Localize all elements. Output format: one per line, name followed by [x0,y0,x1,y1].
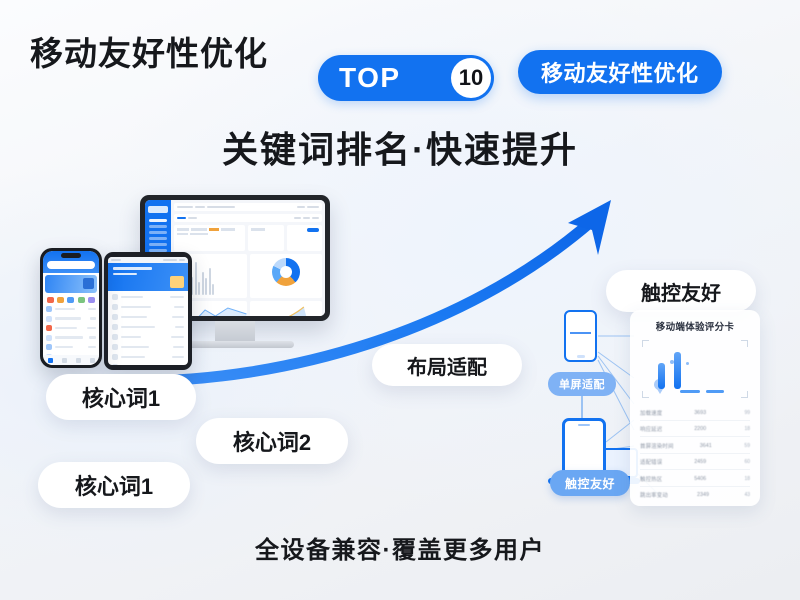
dashboard-donut-card [250,254,323,298]
row-value: 2200 [694,426,706,432]
row-value: 3693 [694,410,706,416]
row-delta: 99 [738,410,750,416]
tablet-mockup [104,252,192,370]
dashboard-stat-card [248,225,284,251]
dashboard-nav-item [149,243,167,246]
bar-series [658,347,738,389]
keyword-pill-2[interactable]: 核心词2 [196,418,348,464]
monitor-base [176,341,294,348]
dashboard-topbar [174,203,322,211]
keyword-pill-3[interactable]: 核心词1 [38,462,190,508]
layout-adapt-pill[interactable]: 布局适配 [372,344,522,386]
phone-search-bar [47,261,95,269]
phone-quick-icons [43,295,99,306]
list-item [46,316,96,322]
row-value: 3641 [700,443,712,449]
list-item [46,325,96,331]
bracket-icon [642,391,649,398]
footer-tagline: 全设备兼容·覆盖更多用户 [0,530,800,565]
bar [658,363,665,389]
row-delta: 60 [738,459,750,465]
dashboard-logo [148,206,168,213]
table-row: 适配错误 2459 60 [640,454,750,471]
dashboard-trend-card [250,301,323,316]
small-phone-icon [564,310,597,362]
list-item [112,314,184,320]
phone-list [43,306,99,360]
list-item [46,344,96,350]
dashboard-main [171,200,325,316]
row-label: 适配错误 [640,458,662,466]
dashboard-tabbar [174,214,322,222]
row-delta: 59 [738,443,750,449]
diagram-chip-top: 单屏适配 [548,372,616,396]
phone-tabbar [43,355,99,365]
diagram-chip-bottom: 触控友好 [550,470,630,496]
row-value: 2349 [697,492,709,498]
dashboard-row [174,301,322,316]
list-item [112,334,184,340]
banner-thumbnail [170,276,184,288]
score-card-chart [642,340,748,398]
list-item [112,324,184,330]
page-subtitle: 关键词排名·快速提升 [0,121,800,173]
dashboard-row [174,225,322,251]
row-label: 加载速度 [640,409,662,417]
mobile-experience-diagram: 单屏适配 触控友好 移动端体验评分卡 加载速度 3693 99 [540,300,780,515]
list-item [112,304,184,310]
list-item [46,306,96,312]
table-row: 触控热区 5406 18 [640,470,750,487]
monitor-neck [215,321,255,341]
row-label: 首屏渲染时间 [640,442,674,450]
tablet-screen [108,257,188,365]
score-card: 移动端体验评分卡 加载速度 3693 99 响应延迟 [630,310,760,506]
tablet-list [108,291,188,365]
phone-mockup [40,248,102,368]
phone-notch [61,253,81,258]
dashboard-row [174,254,322,298]
top-badge-number: 10 [451,58,491,98]
row-label: 响应延迟 [640,425,662,433]
bar-base [680,390,700,393]
row-value: 5406 [694,476,706,482]
bar [674,352,681,389]
dashboard-nav-item [149,219,167,222]
row-delta: 18 [738,426,750,432]
header-chip-mobile-friendly: 移动友好性优化 [518,50,722,94]
list-item [46,335,96,341]
list-item [112,354,184,360]
dashboard-nav-item [149,237,167,240]
table-row: 首屏渲染时间 3641 59 [640,437,750,454]
table-row: 加载速度 3693 99 [640,404,750,421]
phone-screen [43,251,99,365]
bar-base [706,390,724,393]
list-item [112,364,184,365]
bracket-icon [741,391,748,398]
device-mockup-group [30,195,330,360]
top-badge-word: TOP [339,62,401,94]
page-title: 移动友好性优化 [30,27,268,75]
score-card-title: 移动端体验评分卡 [640,319,750,333]
bracket-icon [741,340,748,347]
top-rank-badge: TOP 10 [318,55,494,101]
keyword-pill-1[interactable]: 核心词1 [46,374,196,420]
bracket-icon [642,340,649,347]
score-card-rows: 加载速度 3693 99 响应延迟 2200 18 首屏渲染时间 3641 59… [640,404,750,502]
row-delta: 18 [738,476,750,482]
phone-promo-banner [45,275,97,293]
donut-chart [272,258,300,286]
trend-chart [250,301,323,316]
table-row: 跳出率变动 2349 43 [640,487,750,503]
row-delta: 43 [738,492,750,498]
dashboard-nav-item [149,231,167,234]
table-row: 响应延迟 2200 18 [640,421,750,438]
promo-thumbnail [83,278,94,289]
row-value: 2459 [694,459,706,465]
row-label: 跳出率变动 [640,491,668,499]
dashboard-action-card [287,225,323,251]
list-item [112,294,184,300]
list-item [112,344,184,350]
dashboard-filter-card [174,225,245,251]
tablet-banner [108,263,188,291]
row-label: 触控热区 [640,475,662,483]
dashboard-nav-item [149,225,167,228]
